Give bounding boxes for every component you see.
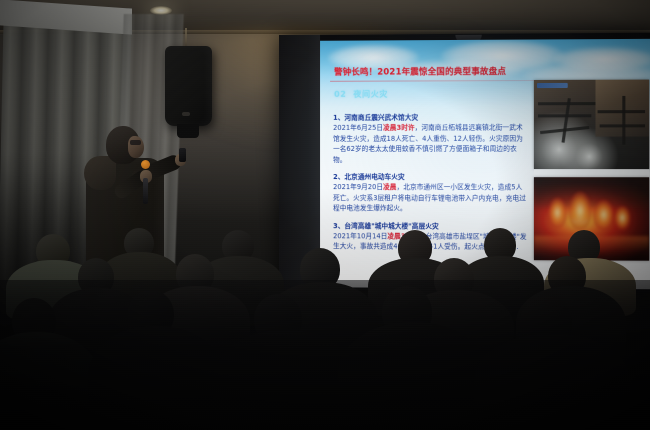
slide-item-date: 2021年9月20日 xyxy=(333,183,383,191)
flame-shape xyxy=(614,206,631,230)
slide-item-heading: 1、河南商丘震兴武术馆大灾 xyxy=(333,112,528,123)
presenter-hood xyxy=(84,156,116,190)
presenter-glasses xyxy=(130,140,141,145)
microphone xyxy=(141,160,150,169)
photo-separator xyxy=(534,169,649,177)
audience-shadow-base xyxy=(0,280,650,430)
flame-shape xyxy=(548,197,566,227)
flame-shape xyxy=(569,191,592,230)
slide-title: 警钟长鸣！2021年震惊全国的典型事故盘点 xyxy=(334,64,640,77)
speaker-logo xyxy=(182,112,190,116)
presentation-remote xyxy=(179,148,186,162)
photo-caption-tag xyxy=(537,83,568,88)
slide-item: 2、北京通州电动车火灾 2021年9月20日凌晨，北京市通州区一小区发生火灾，造… xyxy=(333,172,528,214)
microphone-body xyxy=(143,178,148,204)
section-label: 夜间火灾 xyxy=(353,90,388,99)
slide-item-heading: 2、北京通州电动车火灾 xyxy=(333,172,528,183)
slide-section-heading: 02 夜间火灾 xyxy=(334,89,388,100)
section-number: 02 xyxy=(334,90,346,99)
slide-item-highlight: 凌晨3时许 xyxy=(383,124,415,132)
burned-interior-photo xyxy=(534,80,649,170)
slide-item: 1、河南商丘震兴武术馆大灾 2021年6月25日凌晨3时许，河南商丘柘城县远襄镇… xyxy=(333,112,528,165)
lecture-room-photo: 警钟长鸣！2021年震惊全国的典型事故盘点 02 夜间火灾 1、河南商丘震兴武术… xyxy=(0,0,650,430)
shelf-bar xyxy=(598,110,645,113)
flame-shape xyxy=(593,200,614,231)
support-post xyxy=(622,96,625,145)
seated-audience xyxy=(0,228,650,430)
slide-item-highlight: 凌晨 xyxy=(383,184,396,192)
slide-item-date: 2021年6月25日 xyxy=(333,124,383,132)
